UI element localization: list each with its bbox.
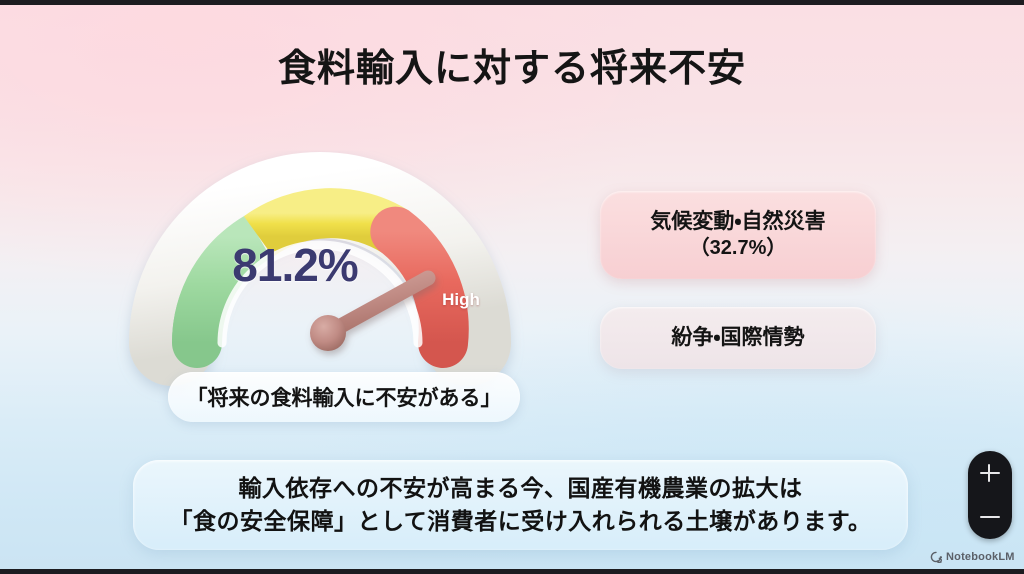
summary-banner-line-2: 「食の安全保障」として消費者に受け入れられる土壌があります。: [169, 505, 871, 538]
factor-card-value: （32.7%）: [690, 236, 787, 261]
zoom-in-icon[interactable]: [977, 460, 1003, 486]
gauge-chart: 81.2% High: [150, 135, 510, 380]
factor-card-label: 紛争・国際情勢: [671, 325, 804, 351]
notebooklm-label: NotebookLM: [946, 551, 1015, 563]
summary-banner-line-1: 輸入依存への不安が高まる今、国産有機農業の拡大は: [239, 472, 803, 505]
factor-card-conflict: 紛争・国際情勢: [600, 307, 876, 369]
letterbox-bottom: [0, 569, 1024, 574]
gauge-zone-label: High: [426, 290, 496, 310]
factor-card-label: 気候変動・自然災害: [650, 209, 825, 235]
slide-canvas: 食料輸入に対する将来不安: [0, 5, 1024, 569]
factor-card-climate: 気候変動・自然災害 （32.7%）: [600, 191, 876, 279]
zoom-control[interactable]: [968, 451, 1012, 539]
slide-root: 食料輸入に対する将来不安: [0, 0, 1024, 574]
gauge-caption-pill: 「将来の食料輸入に不安がある」: [168, 372, 520, 422]
gauge-value-label: 81.2%: [150, 238, 440, 292]
notebooklm-logo-icon: [930, 551, 942, 563]
letterbox-top: [0, 0, 1024, 5]
zoom-out-icon[interactable]: [977, 504, 1003, 530]
summary-banner: 輸入依存への不安が高まる今、国産有機農業の拡大は 「食の安全保障」として消費者に…: [133, 460, 908, 550]
page-title: 食料輸入に対する将来不安: [0, 37, 1024, 92]
notebooklm-watermark: NotebookLM: [930, 551, 1015, 563]
